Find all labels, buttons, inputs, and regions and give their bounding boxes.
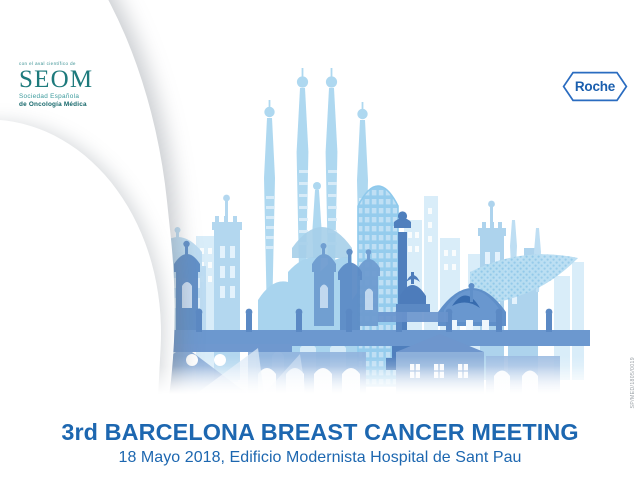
bottom-fade-band xyxy=(0,366,640,394)
page-title: 3rd BARCELONA BREAST CANCER MEETING xyxy=(0,419,640,445)
legal-material-code: SP/MED/1805/0019 xyxy=(630,357,636,408)
title-block: 3rd BARCELONA BREAST CANCER MEETING 18 M… xyxy=(0,419,640,468)
seom-subtitle-line-1: Sociedad Española xyxy=(19,93,139,102)
seom-subtitle-line-2: de Oncología Médica xyxy=(19,101,139,109)
seom-logo[interactable]: con el aval científico de SEOM Sociedad … xyxy=(19,61,139,110)
page-subtitle: 18 Mayo 2018, Edificio Modernista Hospit… xyxy=(0,448,640,468)
seom-acronym: SEOM xyxy=(19,68,139,92)
roche-logo[interactable]: Roche xyxy=(562,71,628,102)
roche-wordmark: Roche xyxy=(562,71,628,102)
poster-canvas: con el aval científico de SEOM Sociedad … xyxy=(0,0,640,480)
